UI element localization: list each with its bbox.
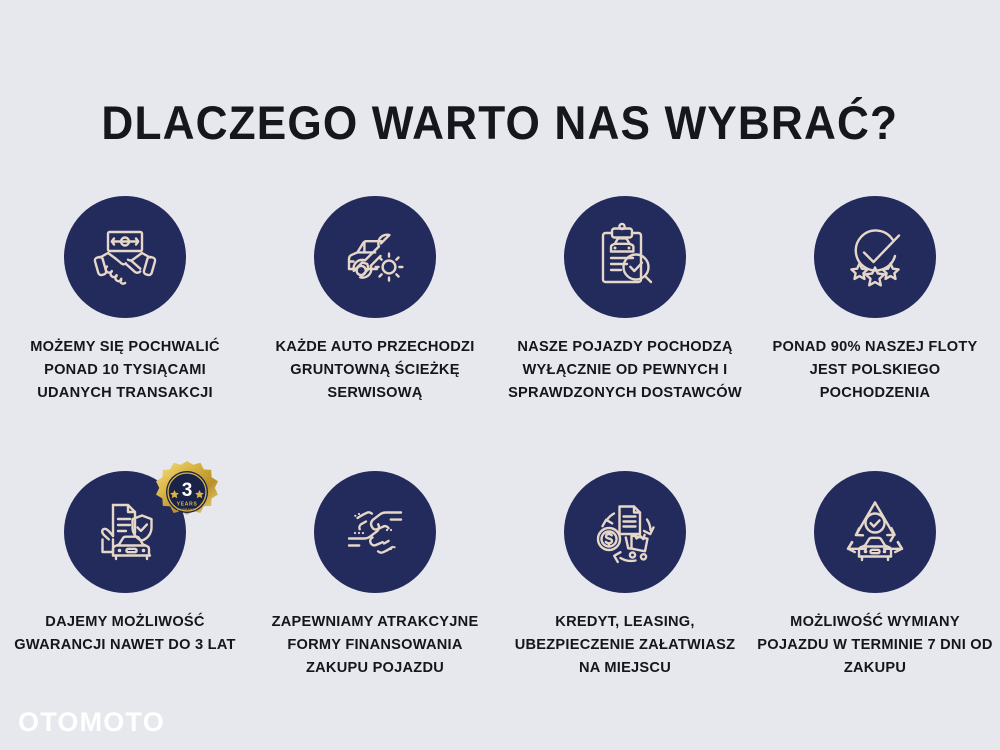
icon-holder-1 [64,196,186,318]
icon-holder-8 [814,471,936,593]
features-grid: MOŻEMY SIĘ POCHWALIĆ PONAD 10 TYSIĄCAMI … [0,196,1000,746]
brand-logo: OTOMOTO [18,709,165,736]
feature-caption-3: NASZE POJAZDY POCHODZĄ WYŁĄCZNIE OD PEWN… [500,336,750,405]
icon-circle-1 [64,196,186,318]
icon-holder-3 [564,196,686,318]
feature-card-2: KAŻDE AUTO PRZECHODZI GRUNTOWNĄ ŚCIEŻKĘ … [250,196,500,471]
feature-caption-5: DAJEMY MOŻLIWOŚĆ GWARANCJI NAWET DO 3 LA… [0,611,250,657]
warranty-document-shield-car-icon [86,493,164,571]
svg-text:YEARS: YEARS [177,502,198,508]
car-service-wrench-gear-icon [337,219,413,295]
svg-text:3: 3 [182,480,193,501]
feature-card-1: MOŻEMY SIĘ POCHWALIĆ PONAD 10 TYSIĄCAMI … [0,196,250,471]
finance-cycle-document-coin-cart-icon [587,494,663,570]
feature-caption-2: KAŻDE AUTO PRZECHODZI GRUNTOWNĄ ŚCIEŻKĘ … [250,336,500,405]
icon-holder-4 [814,196,936,318]
feature-caption-1: MOŻEMY SIĘ POCHWALIĆ PONAD 10 TYSIĄCAMI … [0,336,250,405]
feature-caption-6: ZAPEWNIAMY ATRAKCYJNE FORMY FINANSOWANIA… [250,611,500,680]
brand-name: OTOMOTO [18,709,165,736]
icon-circle-2 [314,196,436,318]
checkmark-stars-quality-icon [837,219,913,295]
feature-caption-7: KREDYT, LEASING, UBEZPIECZENIE ZAŁATWIAS… [500,611,750,680]
feature-card-4: PONAD 90% NASZEJ FLOTY JEST POLSKIEGO PO… [750,196,1000,471]
feature-card-7: KREDYT, LEASING, UBEZPIECZENIE ZAŁATWIAS… [500,471,750,746]
promo-banner: DLACZEGO WARTO NAS WYBRAĆ? [0,0,1000,750]
icon-holder-7 [564,471,686,593]
icon-circle-7 [564,471,686,593]
handshake-money-icon [87,219,163,295]
feature-card-6: ZAPEWNIAMY ATRAKCYJNE FORMY FINANSOWANIA… [250,471,500,746]
feature-caption-8: MOŻLIWOŚĆ WYMIANY POJAZDU W TERMINIE 7 D… [750,611,1000,680]
icon-circle-8 [814,471,936,593]
feature-card-8: MOŻLIWOŚĆ WYMIANY POJAZDU W TERMINIE 7 D… [750,471,1000,746]
icon-holder-6 [314,471,436,593]
svg-text:WARRANTY: WARRANTY [177,508,198,512]
feature-card-3: NASZE POJAZDY POCHODZĄ WYŁĄCZNIE OD PEWN… [500,196,750,471]
icon-holder-5: 3 YEARS WARRANTY [64,471,186,593]
feature-card-5: 3 YEARS WARRANTY DAJEMY MOŻLIWOŚĆ GWARAN… [0,471,250,746]
clipboard-car-inspection-icon [587,219,663,295]
page-title-wrap: DLACZEGO WARTO NAS WYBRAĆ? [0,64,1000,182]
page-title: DLACZEGO WARTO NAS WYBRAĆ? [102,95,899,150]
feature-caption-4: PONAD 90% NASZEJ FLOTY JEST POLSKIEGO PO… [750,336,1000,405]
hands-money-exchange-icon [338,495,412,569]
car-exchange-recycle-icon [836,493,914,571]
icon-circle-3 [564,196,686,318]
icon-holder-2 [314,196,436,318]
three-years-warranty-badge-icon: 3 YEARS WARRANTY [156,461,218,523]
icon-circle-4 [814,196,936,318]
icon-circle-6 [314,471,436,593]
